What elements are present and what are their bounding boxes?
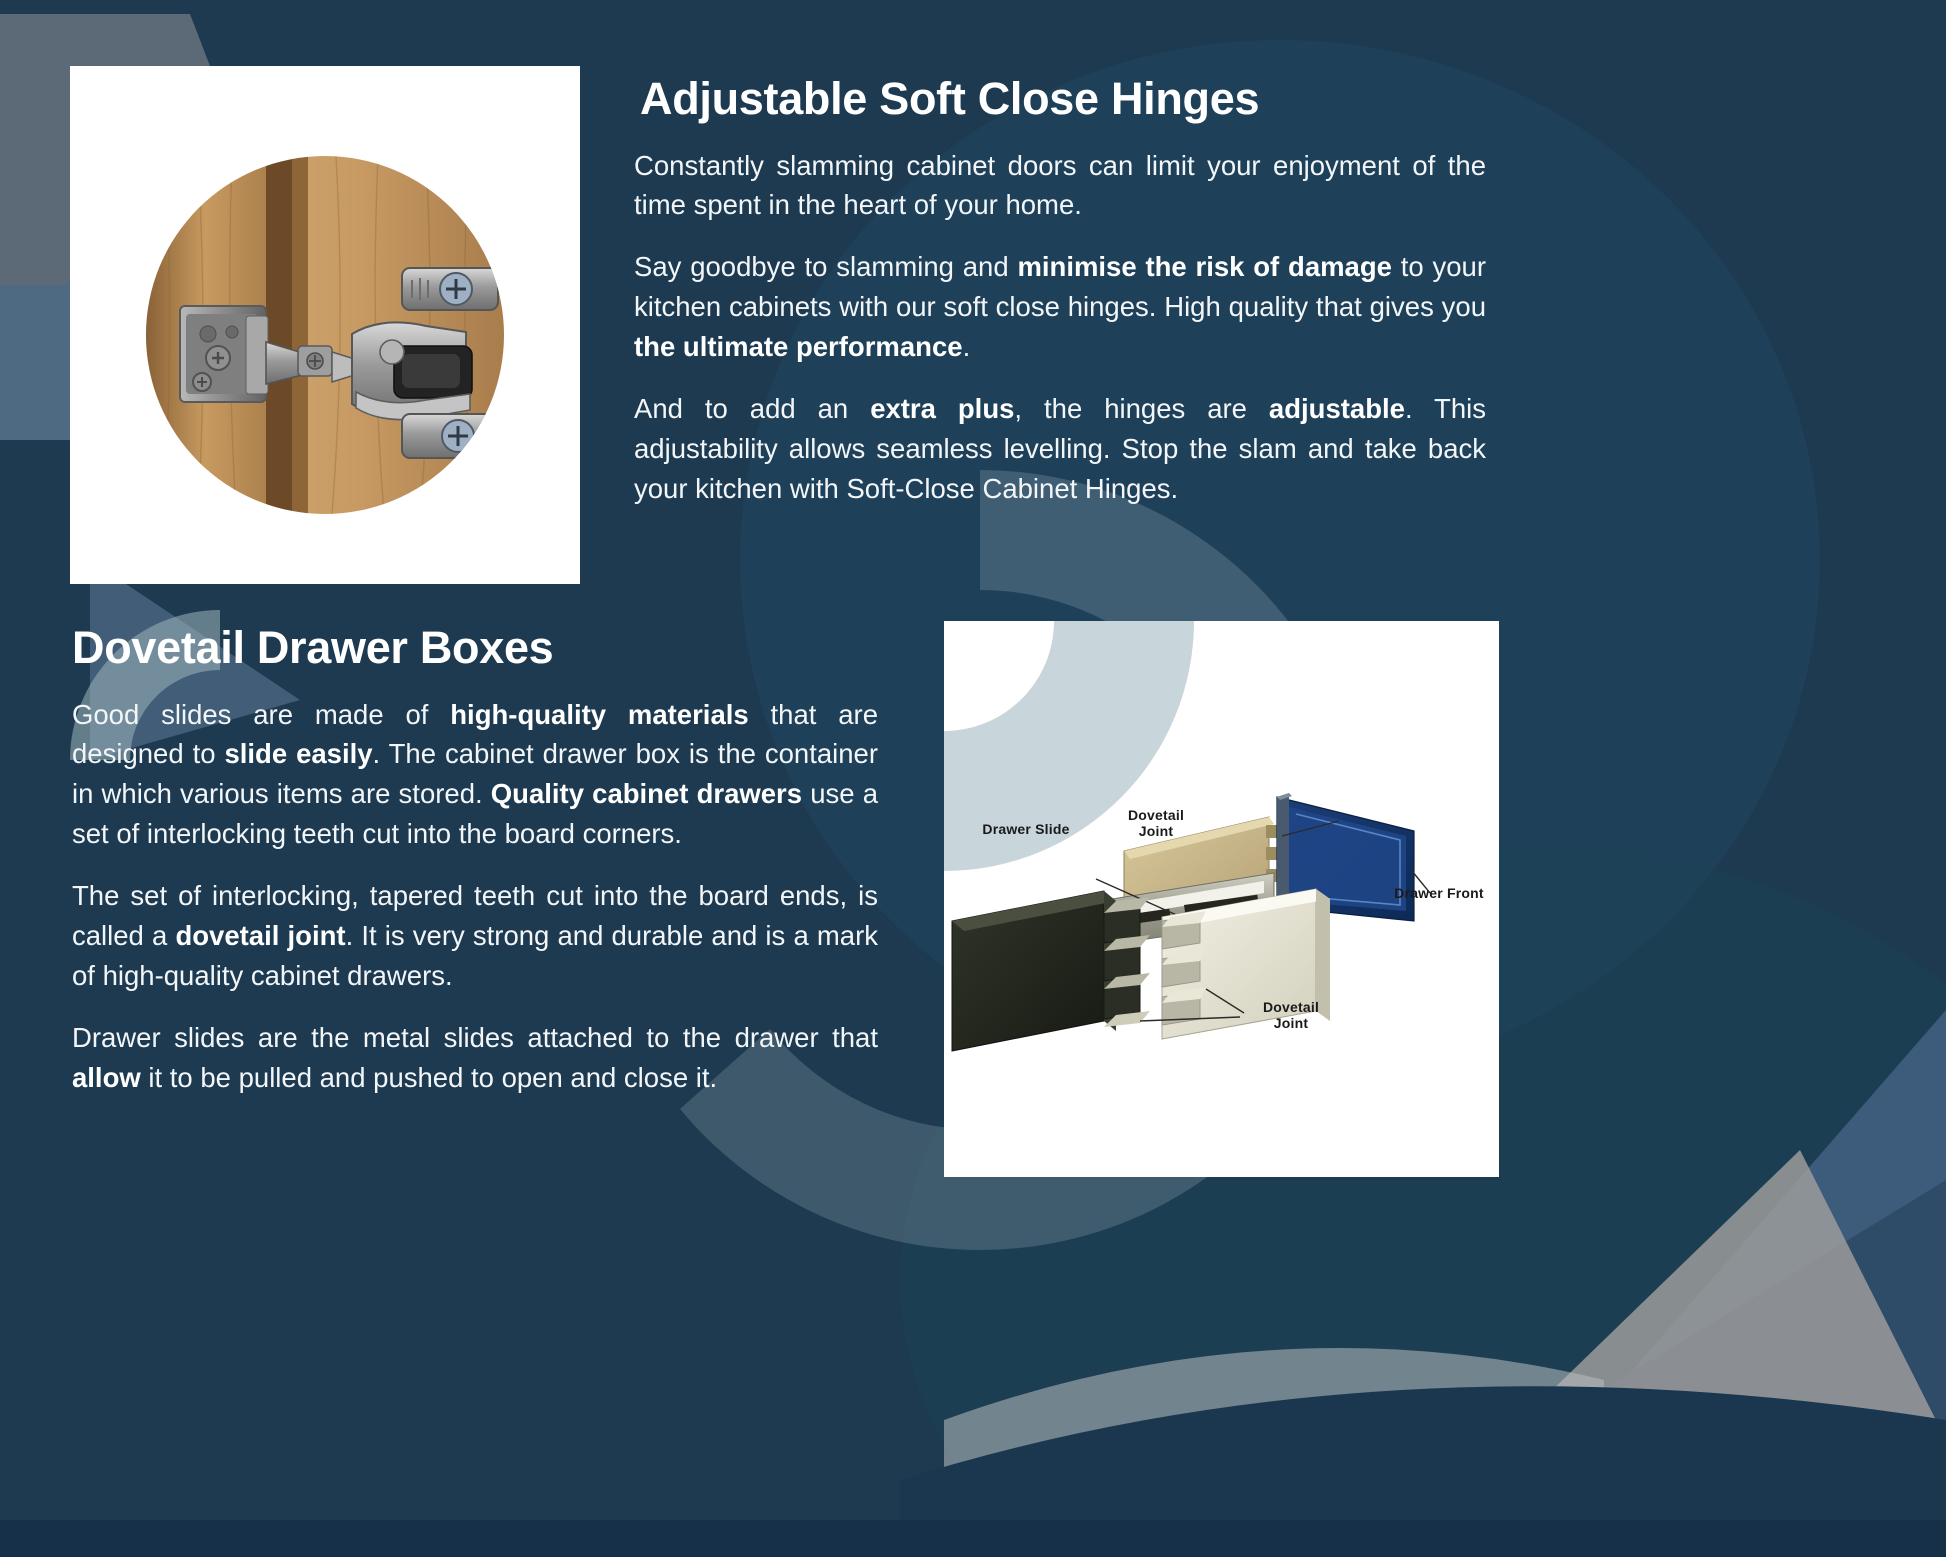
text-run-bold: high-quality materials [450,699,748,730]
text-run-bold: adjustable [1269,393,1405,424]
hinges-paragraph-1: Constantly slamming cabinet doors can li… [634,146,1486,226]
dovetail-paragraph-3: Drawer slides are the metal slides attac… [72,1018,878,1098]
text-run: And to add an [634,393,870,424]
dovetail-image-card: Drawer Slide Dovetail Joint Drawer Front… [944,621,1499,1177]
hinges-section: Adjustable Soft Close Hinges Constantly … [634,74,1486,509]
text-run: Drawer slides are the metal slides attac… [72,1022,878,1053]
hinge-photo-svg [146,156,504,514]
bottom-band [0,1520,1946,1557]
text-run-bold: extra plus [870,393,1014,424]
page-title-dovetail: Dovetail Drawer Boxes [72,623,878,673]
text-run-bold: slide easily [224,738,372,769]
page-title-hinges: Adjustable Soft Close Hinges [634,74,1486,124]
diagram-label-drawer-front: Drawer Front [1380,885,1498,901]
text-run-bold: dovetail joint [175,920,345,951]
text-run-bold: Quality cabinet drawers [491,778,802,809]
diagram-label-dovetail-joint-top: Dovetail Joint [1112,807,1200,839]
text-run-bold: minimise the risk of damage [1017,251,1392,282]
dovetail-section: Dovetail Drawer Boxes Good slides are ma… [72,623,878,1097]
text-run: it to be pulled and pushed to open and c… [141,1062,717,1093]
text-run: Good slides are made of [72,699,450,730]
text-run: Constantly slamming cabinet doors can li… [634,150,1486,221]
text-run-bold: allow [72,1062,141,1093]
dovetail-paragraph-2: The set of interlocking, tapered teeth c… [72,876,878,996]
dovetail-paragraph-1: Good slides are made of high-quality mat… [72,695,878,855]
diagram-label-drawer-slide: Drawer Slide [966,821,1086,837]
hinge-image-card [70,66,580,584]
hinges-paragraph-3: And to add an extra plus, the hinges are… [634,389,1486,509]
hinges-paragraph-2: Say goodbye to slamming and minimise the… [634,247,1486,367]
top-band [0,0,1946,10]
diagram-label-dovetail-joint-bottom: Dovetail Joint [1246,999,1336,1031]
text-run: , the hinges are [1014,393,1269,424]
soft-close-hinge-photo [146,156,504,514]
text-run-bold: the ultimate performance [634,331,963,362]
text-run: . [963,331,971,362]
infographic-page: Adjustable Soft Close Hinges Constantly … [0,0,1946,1557]
text-run: Say goodbye to slamming and [634,251,1017,282]
